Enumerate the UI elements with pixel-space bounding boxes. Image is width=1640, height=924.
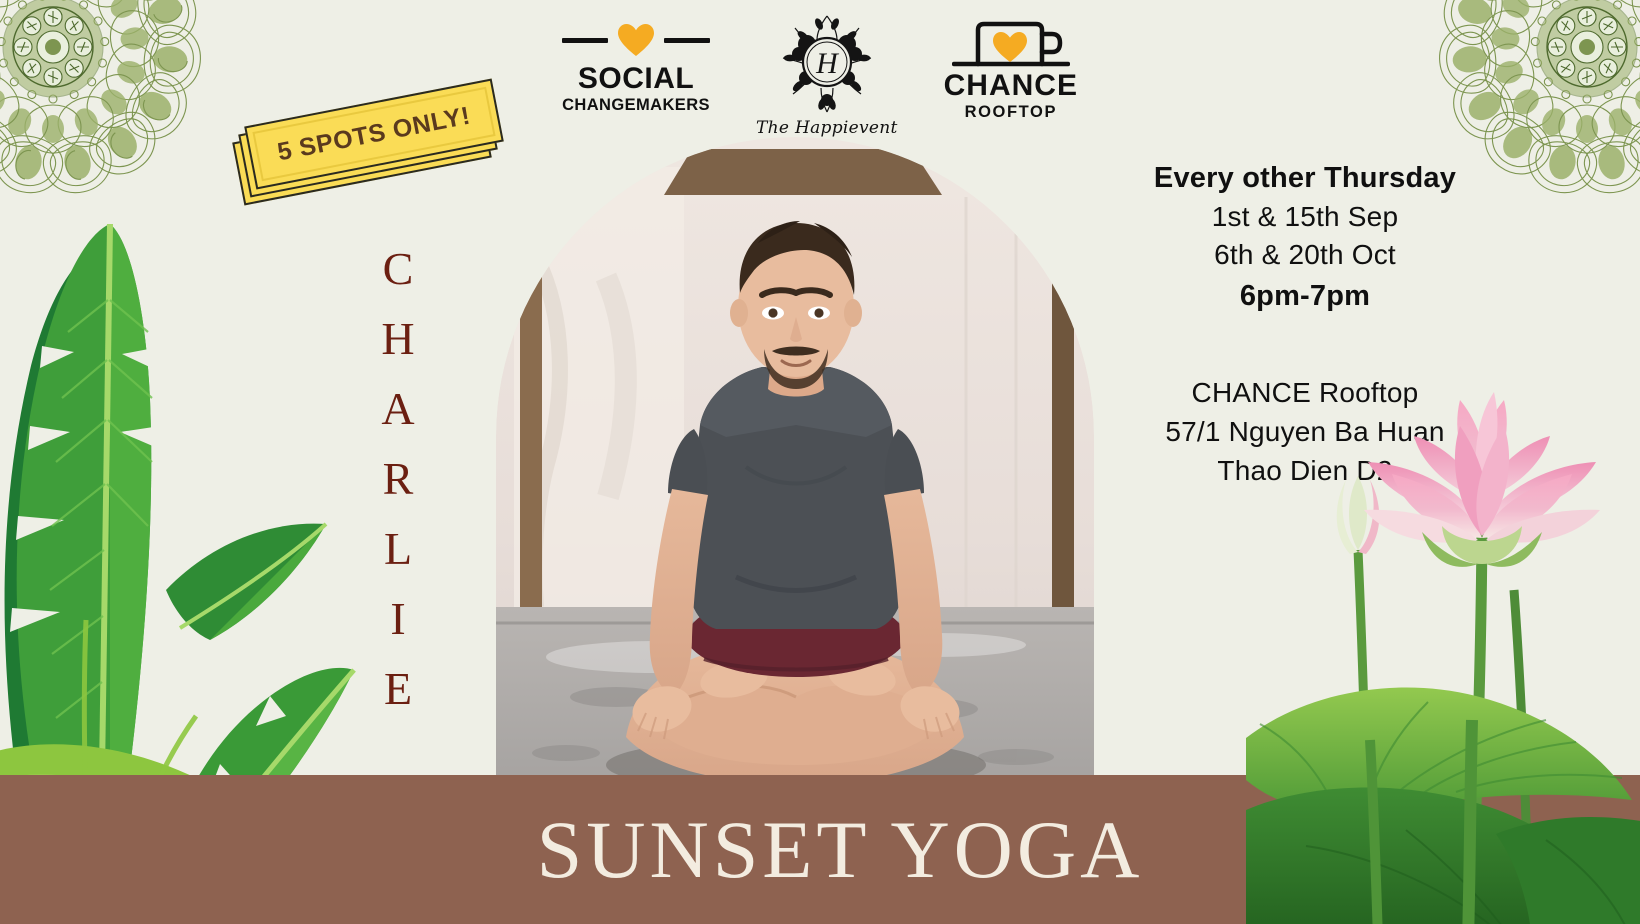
event-details: Every other Thursday 1st & 15th Sep 6th …: [1105, 160, 1505, 490]
logo-happievent-script: The Happievent: [756, 118, 898, 138]
floral-wreath-monogram-icon: H: [773, 12, 881, 116]
charlie-letter-0: C: [383, 246, 414, 292]
charlie-letter-2: A: [381, 386, 414, 432]
venue-block: CHANCE Rooftop 57/1 Nguyen Ba Huan Thao …: [1105, 374, 1505, 490]
page-title: SUNSET YOGA: [537, 809, 1144, 891]
poster-canvas: SOCIAL CHANGEMAKERS: [0, 0, 1640, 924]
venue-line-1: 57/1 Nguyen Ba Huan: [1105, 413, 1505, 452]
logo-social-changemakers-sub: CHANGEMAKERS: [562, 96, 710, 115]
instructor-photo-arch: [496, 137, 1094, 783]
schedule-time: 6pm-7pm: [1105, 275, 1505, 319]
schedule-date-0: 1st & 15th Sep: [1105, 198, 1505, 237]
schedule-date-1: 6th & 20th Oct: [1105, 236, 1505, 275]
logo-chance-rooftop: CHANCE ROOFTOP: [944, 18, 1078, 122]
logo-social-changemakers: SOCIAL CHANGEMAKERS: [562, 18, 710, 115]
charlie-letter-4: L: [384, 526, 412, 572]
heart-between-bars-icon: [562, 18, 710, 62]
schedule-heading: Every other Thursday: [1105, 160, 1505, 198]
logo-happievent: H The Happievent: [756, 12, 898, 138]
charlie-letter-6: E: [384, 666, 412, 712]
charlie-letter-5: I: [390, 596, 405, 642]
venue-line-0: CHANCE Rooftop: [1105, 374, 1505, 413]
spots-ticket-stack[interactable]: 5 SPOTS ONLY!: [228, 62, 508, 212]
charlie-letter-1: H: [381, 316, 414, 362]
logo-chance-name: CHANCE: [944, 71, 1078, 102]
logo-chance-sub: ROOFTOP: [965, 103, 1057, 122]
charlie-letter-3: R: [383, 456, 414, 502]
title-banner: SUNSET YOGA: [0, 775, 1640, 924]
happievent-monogram-letter: H: [815, 47, 840, 80]
coffee-cup-heart-icon: [952, 18, 1070, 68]
instructor-name-vertical: C H A R L I E: [360, 246, 436, 736]
heart-icon: [617, 23, 655, 57]
venue-line-2: Thao Dien D2: [1105, 452, 1505, 491]
logo-social-changemakers-name: SOCIAL: [578, 64, 694, 95]
